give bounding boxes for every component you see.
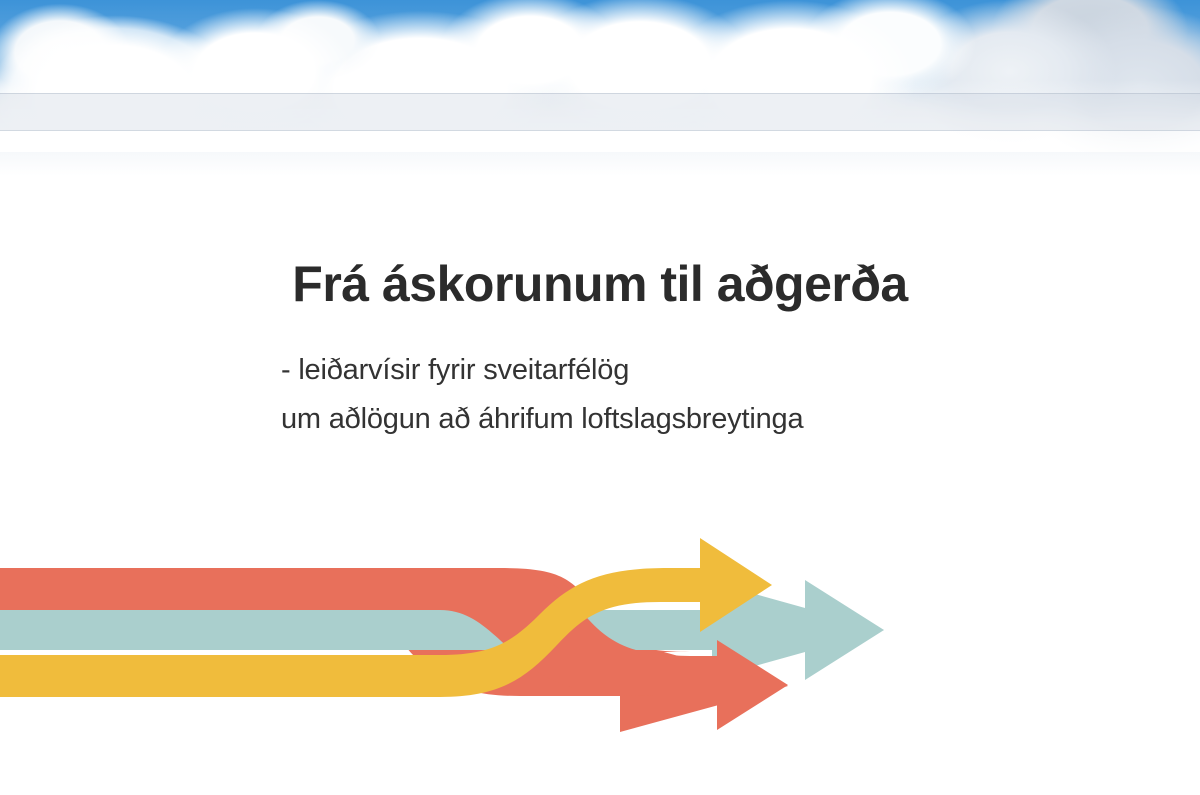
hero-sky-image	[0, 0, 1200, 176]
hero-overlay-band	[0, 93, 1200, 131]
poster-page: Frá áskorunum til aðgerða - leiðarvísir …	[0, 0, 1200, 795]
three-crossing-arrows-graphic	[0, 500, 1200, 795]
hero-band-top-rule	[0, 93, 1200, 94]
page-title: Frá áskorunum til aðgerða	[0, 258, 1200, 311]
hero-band-bottom-rule	[0, 130, 1200, 131]
subtitle-line-2: um aðlögun að áhrifum loftslagsbreytinga	[281, 395, 1121, 444]
hero-bottom-fade	[0, 152, 1200, 176]
page-subtitle: - leiðarvísir fyrir sveitarfélög um aðlö…	[281, 346, 1121, 444]
subtitle-line-1: - leiðarvísir fyrir sveitarfélög	[281, 346, 1121, 395]
